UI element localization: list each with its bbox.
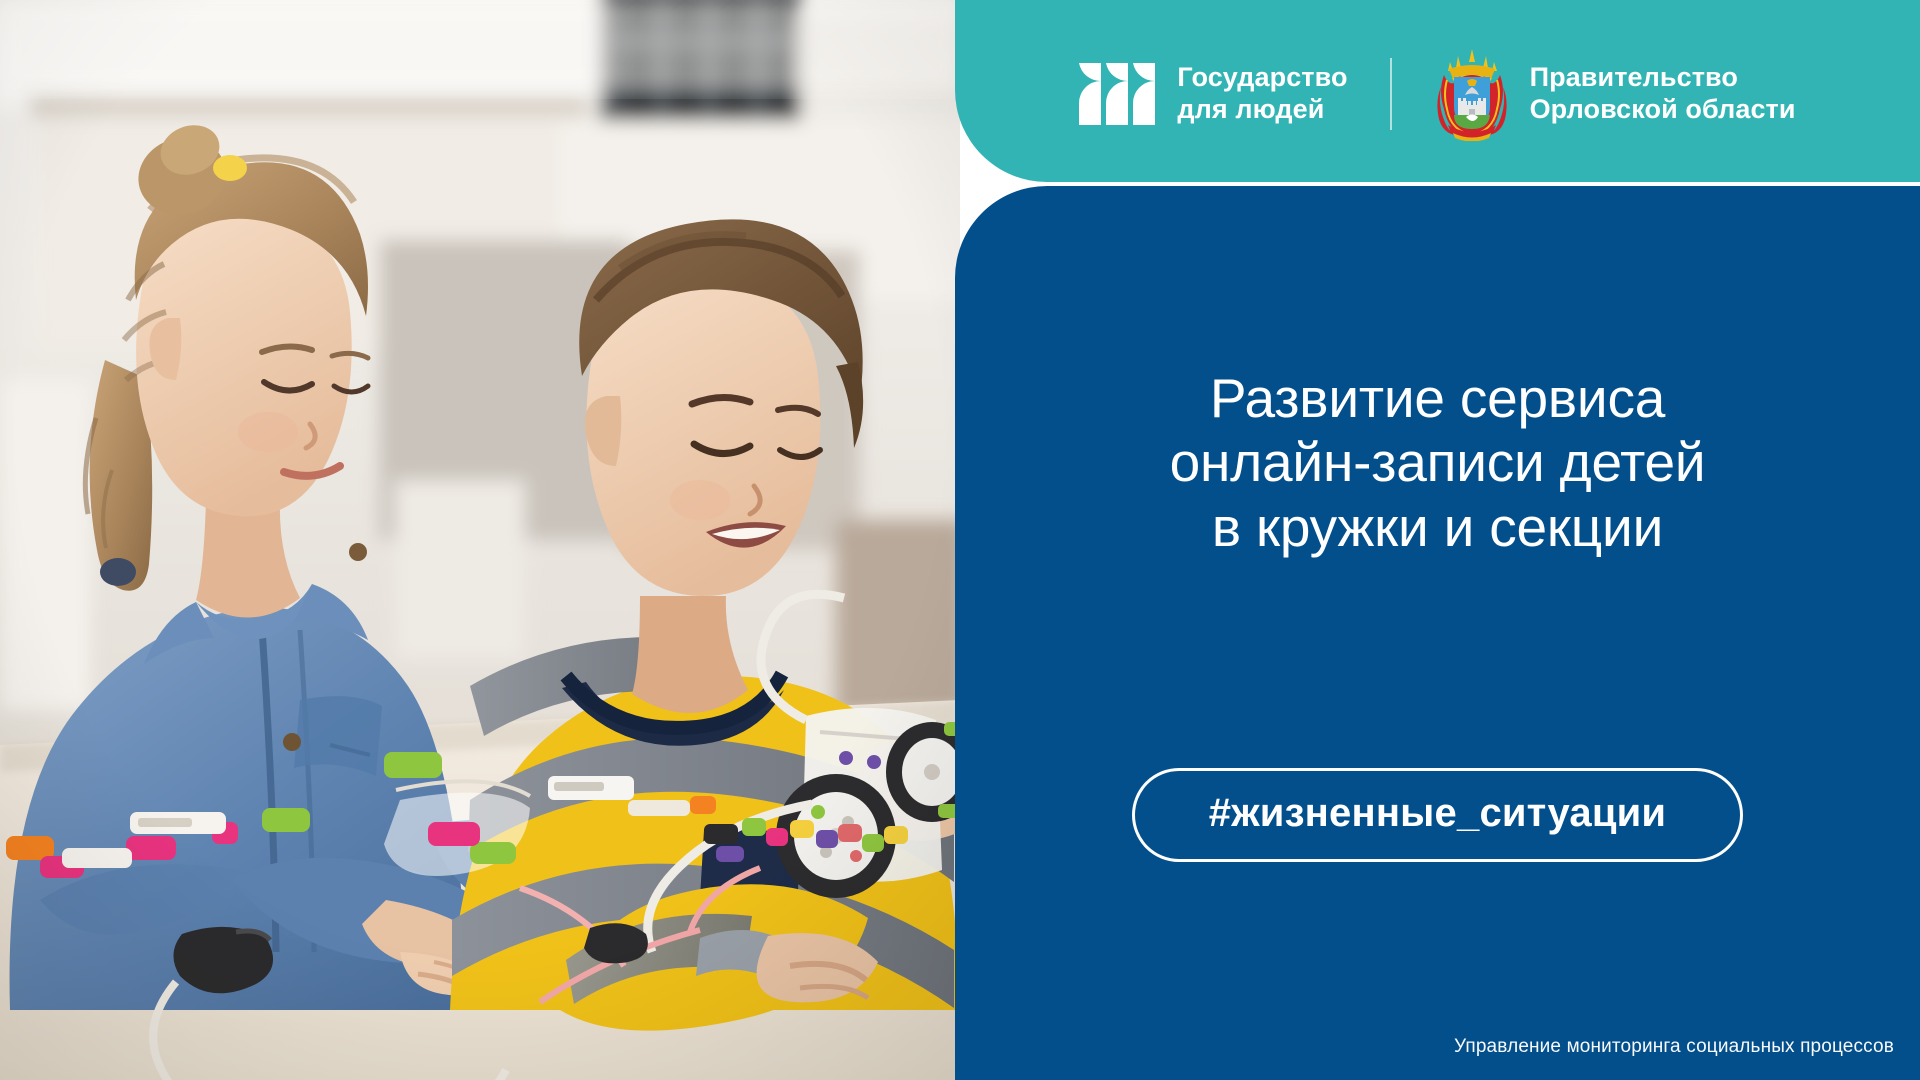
gov-logo-lockup[interactable]: Государство для людей: [1079, 57, 1389, 131]
brand-header-bar: Государство для людей: [955, 0, 1920, 182]
children-robotics-photo: [0, 0, 960, 1080]
oblast-logo-label: Правительство Орловской области: [1530, 62, 1796, 126]
photo-illustration: [0, 0, 960, 1080]
department-footer-note: Управление мониторинга социальных процес…: [1454, 1036, 1894, 1058]
gosudarstvo-dlya-lyudey-mark-icon: [1079, 57, 1157, 131]
oryol-oblast-coat-of-arms-icon: [1436, 47, 1508, 141]
gov-logo-label: Государство для людей: [1177, 62, 1347, 126]
content-panel: Развитие сервиса онлайн-записи детей в к…: [955, 186, 1920, 1080]
logos-row: Государство для людей: [1079, 47, 1795, 141]
hashtag-wrap: #жизненные_ситуации: [955, 768, 1920, 862]
page-title: Развитие сервиса онлайн-записи детей в к…: [955, 366, 1920, 559]
oblast-logo-lockup[interactable]: Правительство Орловской области: [1392, 47, 1796, 141]
promo-banner: Государство для людей: [0, 0, 1920, 1080]
hashtag-button[interactable]: #жизненные_ситуации: [1132, 768, 1743, 862]
